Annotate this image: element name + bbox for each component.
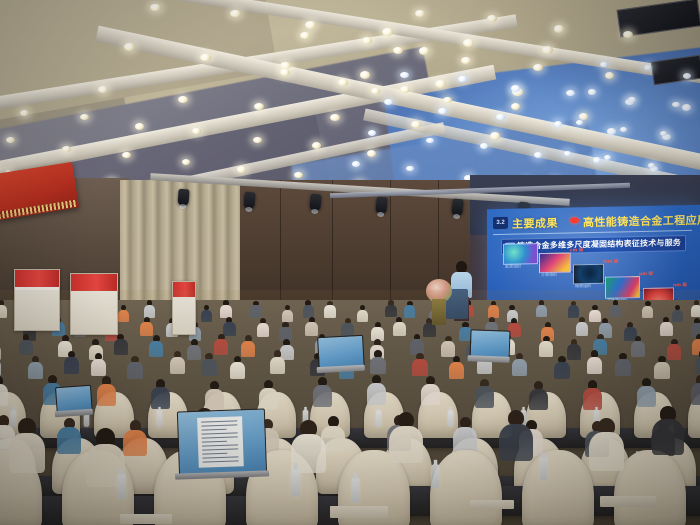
attendee-torso [529, 389, 548, 411]
laptop-keyboard-base[interactable] [468, 355, 510, 362]
attendee-torso [223, 322, 236, 336]
attendee-torso [28, 362, 43, 379]
attendee-torso [220, 305, 231, 318]
attendee-torso [404, 305, 415, 318]
attendee-torso [389, 426, 423, 464]
attendee-torso [589, 310, 600, 323]
attendee-torso [257, 323, 270, 337]
poster-header [173, 282, 195, 297]
open-laptop[interactable] [317, 335, 363, 373]
attendee-torso [554, 362, 569, 379]
poster-header [71, 274, 117, 291]
stage-spotlight [451, 199, 464, 217]
water-bottle [291, 468, 300, 496]
laptop-document [197, 416, 243, 467]
attendee-torso [370, 357, 385, 374]
attendee-torso [57, 427, 81, 453]
attendee-torso [587, 357, 602, 374]
bullet-dot-icon [570, 217, 579, 223]
attendee-torso [642, 306, 653, 319]
attendee-torso [499, 424, 533, 462]
conference-papers [470, 500, 514, 509]
water-bottle [431, 464, 439, 488]
attendee-torso [695, 357, 700, 374]
open-laptop[interactable] [55, 385, 91, 417]
attendee-torso [303, 305, 314, 318]
scale-label: mm 级 [603, 258, 618, 264]
attendee-torso [583, 388, 602, 410]
stage-spotlight [375, 196, 387, 214]
attendee-torso [91, 359, 106, 376]
slide-section-number: 3.2 [493, 217, 508, 229]
attendee-torso [0, 359, 1, 376]
scale-label: μm 级 [639, 271, 653, 277]
attendee-torso [64, 357, 79, 374]
poster-board-right [172, 281, 196, 335]
attendee-torso [449, 362, 464, 379]
water-bottle [448, 410, 454, 427]
attendee-torso [151, 387, 170, 409]
attendee-torso [250, 305, 261, 318]
attendee-torso [576, 322, 589, 336]
attendee-torso [313, 385, 332, 407]
attendee-torso [205, 389, 224, 411]
attendee-torso [539, 341, 553, 357]
micrograph-image [539, 252, 571, 273]
attendee-torso [637, 386, 656, 408]
slide-title-left: 主要成果 [512, 215, 558, 232]
attendee-torso [259, 388, 278, 410]
attendee-torso [568, 305, 579, 318]
attendee-torso [9, 433, 45, 474]
attendee-torso [412, 359, 427, 376]
attendee-torso [201, 359, 216, 376]
conference-chair [430, 450, 502, 525]
slide-subtitle: 铸造合金多维多尺度凝固结构表征技术与服务 [517, 237, 681, 251]
micrograph-image [573, 264, 604, 285]
attendee-torso [667, 344, 681, 360]
water-bottle [351, 478, 359, 503]
open-laptop[interactable] [177, 409, 265, 480]
stage-spotlight [177, 189, 189, 207]
attendee-torso [127, 362, 142, 379]
poster-boards [0, 255, 220, 350]
poster-board-center [70, 273, 118, 335]
attendee-torso [567, 344, 581, 360]
conference-photo: 3.2 主要成果 高性能铸造合金工程应用 铸造合金多维多尺度凝固结构表征技术与服… [0, 0, 700, 525]
water-bottle [540, 457, 548, 480]
attendee-torso [615, 359, 630, 376]
stage-spotlight [243, 191, 255, 209]
attendee-torso [691, 383, 700, 405]
laptop-screen [317, 335, 365, 369]
attendee-torso [589, 432, 624, 471]
laptop-screen [177, 408, 267, 475]
attendee-torso [282, 310, 293, 323]
water-bottle [11, 410, 17, 427]
attendee-torso [610, 305, 621, 318]
poster-header [15, 270, 59, 287]
conference-papers [120, 514, 172, 524]
attendee-torso [357, 310, 368, 323]
attendee-torso [0, 384, 8, 406]
attendee-torso [421, 384, 440, 406]
attendee-torso [631, 341, 645, 357]
attendee-torso [660, 322, 673, 336]
conference-papers [600, 496, 656, 507]
slide-title-right: 高性能铸造合金工程应用 [583, 212, 700, 231]
attendee-torso [230, 362, 245, 379]
attendee-torso [475, 386, 494, 408]
micrograph-image [605, 276, 640, 299]
attendee-torso [652, 419, 684, 455]
attendee-torso [270, 357, 285, 374]
laptop-keyboard-base[interactable] [316, 365, 365, 374]
stage-area [420, 255, 515, 345]
attendee-torso [393, 322, 406, 336]
scale-label: cm 级 [570, 247, 583, 253]
attendee-torso [305, 322, 318, 336]
conference-papers [330, 506, 388, 518]
stage-spotlight [309, 194, 321, 212]
flower-stand [432, 299, 446, 325]
attendee-torso [691, 305, 700, 318]
water-bottle [375, 410, 381, 427]
attendee-torso [324, 305, 335, 318]
attendee-torso [241, 341, 255, 357]
attendee-torso [367, 383, 386, 405]
conference-chair [614, 450, 686, 525]
attendee-torso [536, 305, 547, 318]
water-bottle [117, 474, 125, 499]
poster-board-left [14, 269, 60, 331]
micrograph-caption: 微观组织 [575, 283, 591, 289]
attendee-torso [453, 427, 477, 453]
attendee-torso [97, 384, 116, 406]
attendee-torso [672, 310, 683, 323]
attendee-torso [512, 359, 527, 376]
scale-label: nm 级 [673, 282, 687, 288]
micrograph-caption: 介观组织 [541, 272, 557, 278]
conference-chair [522, 450, 594, 525]
attendee-torso [654, 362, 669, 379]
attendee-torso [385, 305, 396, 318]
water-bottle [156, 410, 162, 427]
attendee-torso [123, 430, 147, 456]
attendee-torso [170, 357, 185, 374]
